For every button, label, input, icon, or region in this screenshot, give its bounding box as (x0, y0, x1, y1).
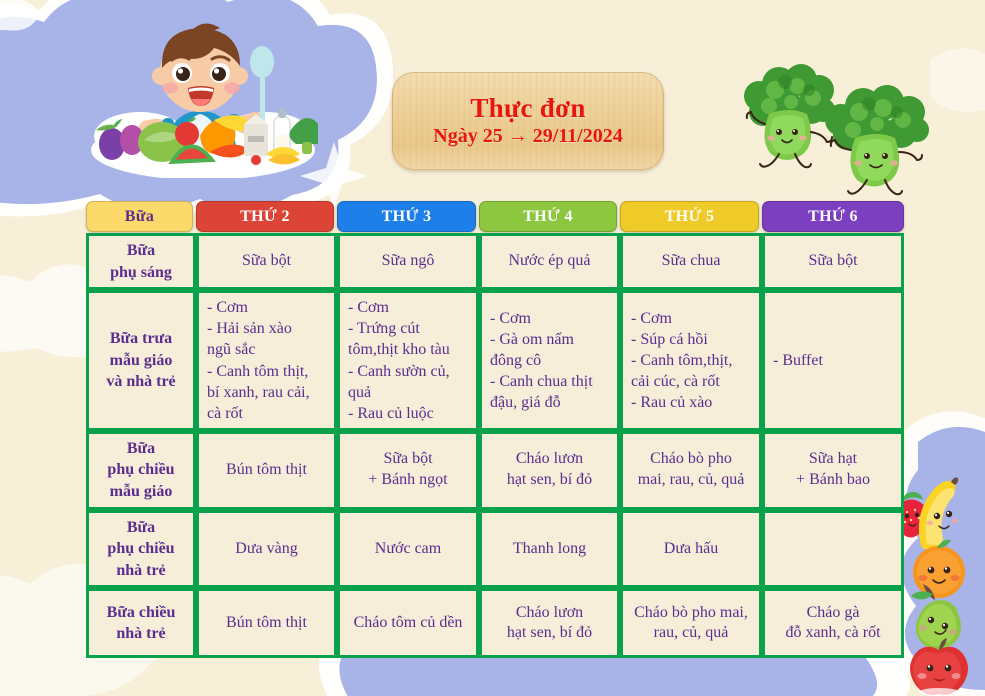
text-line: Dưa vàng (207, 539, 326, 560)
header-cell-tuesday: THỨ 3 (337, 200, 479, 233)
cell-snack-morning-wednesday: Nước ép quả (479, 233, 620, 290)
cell-dinner-nursery-tuesday: Cháo tôm củ dền (337, 588, 479, 658)
text-line: Cháo bò pho mai, (631, 603, 751, 624)
text-line: hạt sen, bí đỏ (490, 470, 609, 491)
text-line: mai, rau, củ, quả (631, 470, 751, 491)
table-row: Bữa chiềunhà trẻ Bún tôm thịt Cháo tôm c… (86, 588, 904, 658)
text-line: - Canh sườn củ, (348, 361, 468, 382)
text-line: Bữa (97, 438, 185, 460)
column-header-monday[interactable]: THỨ 2 (196, 201, 334, 232)
text-line: Thanh long (490, 539, 609, 560)
text-line: mẫu giáo (97, 481, 185, 503)
text-line: Nước cam (348, 539, 468, 560)
column-header-meal[interactable]: Bữa (86, 201, 193, 232)
column-header-tuesday[interactable]: THỨ 3 (337, 201, 476, 232)
table-header-row: Bữa THỨ 2 THỨ 3 THỨ 4 THỨ 5 TH (86, 200, 904, 233)
text-line: đông cô (490, 350, 609, 371)
cell-dinner-nursery-friday: Cháo gàđỗ xanh, cà rốt (762, 588, 904, 658)
text-line: đậu, giá đỗ (490, 392, 609, 413)
row-label-snack-afternoon-preschool: Bữaphụ chiềumẫu giáo (86, 431, 196, 510)
text-line: - Cơm (207, 297, 326, 318)
text-line: - Trứng cút (348, 318, 468, 339)
text-line: phụ chiều (97, 538, 185, 560)
cell-lunch-friday: - Buffet (762, 290, 904, 431)
text-line: hạt sen, bí đỏ (490, 623, 609, 644)
column-header-wednesday[interactable]: THỨ 4 (479, 201, 617, 232)
cell-snack-afternoon-preschool-thursday: Cháo bò phomai, rau, củ, quả (620, 431, 762, 510)
header-cell-monday: THỨ 2 (196, 200, 337, 233)
banana-character (919, 478, 959, 551)
cloud-corner-top-left (0, 0, 40, 31)
text-line: Bún tôm thịt (207, 613, 326, 634)
row-label-snack-morning: Bữaphụ sáng (86, 233, 196, 290)
text-line: Bữa trưa (97, 328, 185, 350)
text-line: Bữa chiều (97, 602, 185, 624)
text-line: - Cơm (490, 308, 609, 329)
broccoli-left (744, 64, 835, 167)
text-line: Cháo bò pho (631, 449, 751, 470)
text-line: nhà trẻ (97, 623, 185, 645)
table-row: Bữaphụ chiềumẫu giáo Bún tôm thịt Sữa bộ… (86, 431, 904, 510)
text-line: Sữa bột (773, 251, 893, 272)
text-line: Bún tôm thịt (207, 460, 326, 481)
cell-snack-afternoon-nursery-friday (762, 510, 904, 589)
text-line: Cháo tôm củ dền (348, 613, 468, 634)
text-line: - Canh chua thịt (490, 371, 609, 392)
header-cell-thursday: THỨ 5 (620, 200, 762, 233)
text-line: Cháo lươn (490, 603, 609, 624)
cell-dinner-nursery-thursday: Cháo bò pho mai,rau, củ, quả (620, 588, 762, 658)
cell-snack-afternoon-nursery-wednesday: Thanh long (479, 510, 620, 589)
header-cell-wednesday: THỨ 4 (479, 200, 620, 233)
text-line: Bữa (97, 517, 185, 539)
text-line: ngũ sắc (207, 339, 326, 360)
fruit-stack-illustration (893, 468, 985, 696)
cell-lunch-tuesday: - Cơm- Trứng cúttôm,thịt kho tàu- Canh s… (337, 290, 479, 431)
text-line: Sữa chua (631, 251, 751, 272)
row-label-lunch: Bữa trưamẫu giáovà nhà trẻ (86, 290, 196, 431)
table-row: Bữaphụ sáng Sữa bột Sữa ngô Nước ép quả … (86, 233, 904, 290)
text-line: cải cúc, cà rốt (631, 371, 751, 392)
cell-snack-afternoon-preschool-friday: Sữa hạt+ Bánh bao (762, 431, 904, 510)
cell-snack-afternoon-preschool-tuesday: Sữa bột+ Bánh ngọt (337, 431, 479, 510)
text-line: + Bánh bao (773, 470, 893, 491)
text-line: Sữa ngô (348, 251, 468, 272)
text-line: - Buffet (773, 352, 893, 370)
text-line: rau, củ, quả (631, 623, 751, 644)
column-header-friday[interactable]: THỨ 6 (762, 201, 904, 232)
text-line: - Rau củ xào (631, 392, 751, 413)
cell-snack-morning-monday: Sữa bột (196, 233, 337, 290)
broccoli-right (825, 85, 929, 194)
text-line: Bữa (97, 240, 185, 262)
text-line: bí xanh, rau cải, (207, 382, 326, 403)
text-line: - Cơm (348, 297, 468, 318)
cell-snack-morning-thursday: Sữa chua (620, 233, 762, 290)
cell-lunch-monday: - Cơm- Hải sản xàongũ sắc- Canh tôm thịt… (196, 290, 337, 431)
table-row: Bữaphụ chiềunhà trẻ Dưa vàng Nước cam Th… (86, 510, 904, 589)
baby-with-food-illustration (88, 18, 318, 178)
text-line: - Cơm (631, 308, 751, 329)
column-header-thursday[interactable]: THỨ 5 (620, 201, 759, 232)
text-line: mẫu giáo (97, 350, 185, 372)
cell-lunch-wednesday: - Cơm- Gà om nấmđông cô- Canh chua thịtđ… (479, 290, 620, 431)
cell-snack-afternoon-preschool-monday: Bún tôm thịt (196, 431, 337, 510)
broccoli-characters-illustration (725, 62, 940, 197)
menu-poster: Thực đơn Ngày 25 → 29/11/2024 Bữa THỨ 2 … (0, 0, 985, 696)
text-line: Sữa hạt (773, 449, 893, 470)
text-line: Sữa bột (348, 449, 468, 470)
text-line: Sữa bột (207, 251, 326, 272)
text-line: - Hải sản xào (207, 318, 326, 339)
table-row: Bữa trưamẫu giáovà nhà trẻ - Cơm- Hải sả… (86, 290, 904, 431)
text-line: - Gà om nấm (490, 329, 609, 350)
title-main: Thực đơn (470, 94, 585, 124)
header-cell-friday: THỨ 6 (762, 200, 904, 233)
text-line: Cháo gà (773, 603, 893, 624)
title-banner: Thực đơn Ngày 25 → 29/11/2024 (392, 72, 664, 170)
text-line: tôm,thịt kho tàu (348, 339, 468, 360)
text-line: + Bánh ngọt (348, 470, 468, 491)
text-line: Nước ép quả (490, 251, 609, 272)
cell-lunch-thursday: - Cơm- Súp cá hồi- Canh tôm,thịt,cải cúc… (620, 290, 762, 431)
cell-snack-afternoon-nursery-monday: Dưa vàng (196, 510, 337, 589)
weekly-menu-table: Bữa THỨ 2 THỨ 3 THỨ 4 THỨ 5 TH (86, 200, 904, 658)
orange-character (913, 540, 965, 598)
cell-dinner-nursery-wednesday: Cháo lươnhạt sen, bí đỏ (479, 588, 620, 658)
cell-dinner-nursery-monday: Bún tôm thịt (196, 588, 337, 658)
text-line: nhà trẻ (97, 560, 185, 582)
title-date-range: Ngày 25 → 29/11/2024 (433, 125, 622, 148)
text-line: cà rốt (207, 403, 326, 424)
spoon-icon (250, 46, 274, 122)
text-line: quả (348, 382, 468, 403)
cell-snack-morning-tuesday: Sữa ngô (337, 233, 479, 290)
menu-table-container: Bữa THỨ 2 THỨ 3 THỨ 4 THỨ 5 TH (86, 200, 904, 658)
text-line: phụ chiều (97, 459, 185, 481)
text-line: đỗ xanh, cà rốt (773, 623, 893, 644)
cell-snack-morning-friday: Sữa bột (762, 233, 904, 290)
text-line: phụ sáng (97, 262, 185, 284)
cell-snack-afternoon-nursery-thursday: Dưa hấu (620, 510, 762, 589)
text-line: - Rau củ luộc (348, 403, 468, 424)
header-cell-meal: Bữa (86, 200, 196, 233)
cell-snack-afternoon-nursery-tuesday: Nước cam (337, 510, 479, 589)
text-line: Cháo lươn (490, 449, 609, 470)
text-line: Dưa hấu (631, 539, 751, 560)
text-line: - Canh tôm thịt, (207, 361, 326, 382)
text-line: và nhà trẻ (97, 371, 185, 393)
text-line: - Canh tôm,thịt, (631, 350, 751, 371)
row-label-dinner-nursery: Bữa chiềunhà trẻ (86, 588, 196, 658)
text-line: - Súp cá hồi (631, 329, 751, 350)
row-label-snack-afternoon-nursery: Bữaphụ chiềunhà trẻ (86, 510, 196, 589)
cell-snack-afternoon-preschool-wednesday: Cháo lươnhạt sen, bí đỏ (479, 431, 620, 510)
